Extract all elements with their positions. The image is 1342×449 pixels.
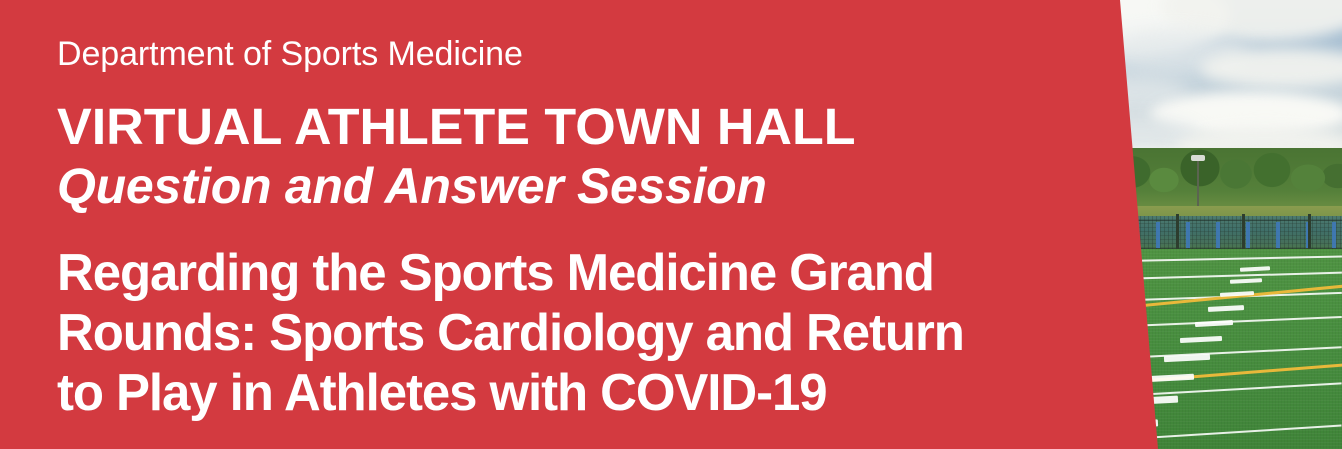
description-line: Rounds: Sports Cardiology and Return	[57, 303, 1125, 363]
fence-post-dark	[1308, 214, 1311, 254]
fence-post-blue	[1216, 222, 1220, 248]
light-pole-head	[1191, 155, 1205, 161]
description-line: to Play in Athletes with COVID-19	[57, 363, 1125, 423]
event-title: VIRTUAL ATHLETE TOWN HALL	[57, 101, 856, 152]
banner: Department of Sports Medicine VIRTUAL AT…	[0, 0, 1342, 449]
fence-post-blue	[1332, 222, 1336, 248]
fence-post-blue	[1186, 222, 1190, 248]
fence-post-blue	[1276, 222, 1280, 248]
fence-post-blue	[1246, 222, 1250, 248]
fence-post-dark	[1242, 214, 1245, 254]
fence-post-dark	[1176, 214, 1179, 254]
event-description: Regarding the Sports Medicine Grand Roun…	[57, 243, 1147, 423]
cloud-shape	[1200, 48, 1342, 88]
department-label: Department of Sports Medicine	[57, 37, 523, 71]
event-subtitle: Question and Answer Session	[57, 161, 767, 211]
description-line: Regarding the Sports Medicine Grand	[57, 243, 1125, 303]
fence-post-blue	[1156, 222, 1160, 248]
banner-content: Department of Sports Medicine VIRTUAL AT…	[57, 0, 1147, 449]
